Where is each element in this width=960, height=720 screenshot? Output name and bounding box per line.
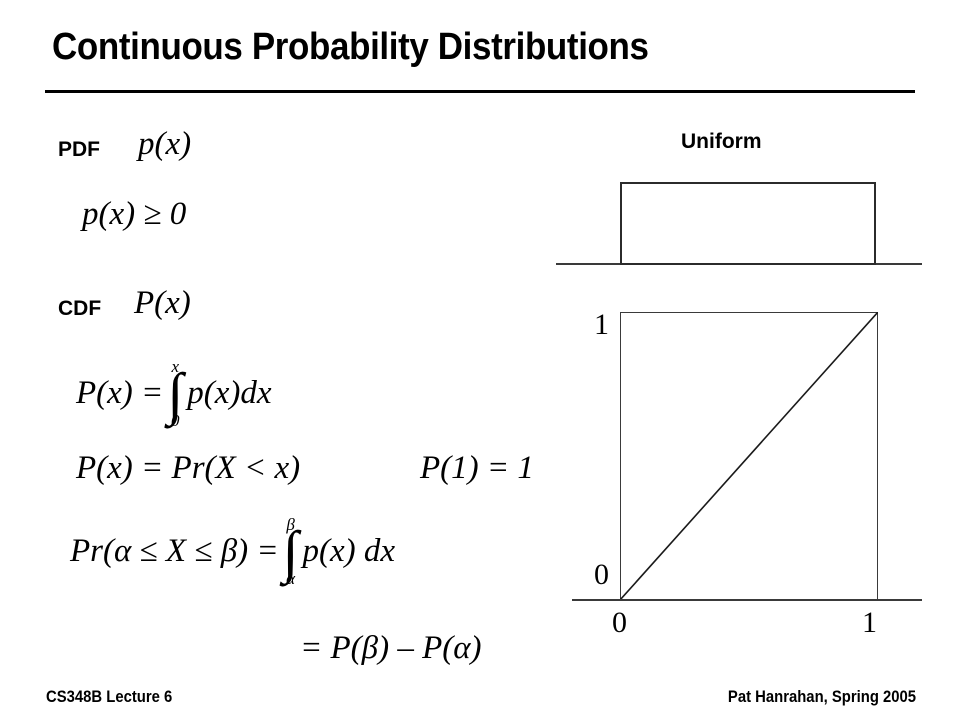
integral-operator: β ∫ α <box>283 516 299 587</box>
cdf-integrand: p(x)dx <box>187 377 271 410</box>
interval-probability-formula: Pr(α ≤ X ≤ β) = β ∫ α p(x) dx <box>70 516 395 587</box>
page-title: Continuous Probability Distributions <box>52 26 649 69</box>
pdf-function-formula: p(x) <box>138 128 191 161</box>
uniform-cdf-chart: 1 0 0 1 <box>556 305 936 645</box>
pdf-section-label: PDF <box>58 138 100 162</box>
uniform-plot-heading: Uniform <box>681 130 762 154</box>
cdf-at-one-formula: P(1) = 1 <box>420 452 534 485</box>
cdf-x-tick-label-0: 0 <box>612 608 627 638</box>
integral-sign-icon: ∫ <box>167 371 183 416</box>
integral-sign-icon: ∫ <box>283 529 299 574</box>
footer-author-label: Pat Hanrahan, Spring 2005 <box>728 688 916 707</box>
cdf-y-tick-label-0: 0 <box>594 560 609 590</box>
cdf-integral-formula: P(x) = x ∫ 0 p(x)dx <box>76 358 271 429</box>
interval-result-formula: = P(β) – P(α) <box>300 632 482 665</box>
cdf-x-axis <box>572 599 922 601</box>
cdf-y-tick-label-1: 1 <box>594 310 609 340</box>
cdf-diagonal-line <box>620 312 878 600</box>
interval-lhs: Pr(α ≤ X ≤ β) = <box>70 535 279 568</box>
integral-operator: x ∫ 0 <box>167 358 183 429</box>
cdf-function-formula: P(x) <box>134 287 191 320</box>
cdf-probability-formula: P(x) = Pr(X < x) <box>76 452 300 485</box>
cdf-x-tick-label-1: 1 <box>862 608 877 638</box>
cdf-integral-lhs: P(x) = <box>76 377 163 410</box>
integral-lower-limit: α <box>286 570 295 587</box>
footer-course-label: CS348B Lecture 6 <box>46 688 172 707</box>
cdf-section-label: CDF <box>58 297 101 321</box>
uniform-pdf-chart <box>556 180 924 270</box>
title-divider <box>45 90 915 93</box>
integral-lower-limit: 0 <box>171 412 180 429</box>
interval-integrand: p(x) dx <box>303 535 396 568</box>
pdf-nonnegative-formula: p(x) ≥ 0 <box>82 198 186 231</box>
slide-canvas: Continuous Probability Distributions PDF… <box>0 0 960 720</box>
pdf-uniform-rectangle <box>620 182 876 265</box>
